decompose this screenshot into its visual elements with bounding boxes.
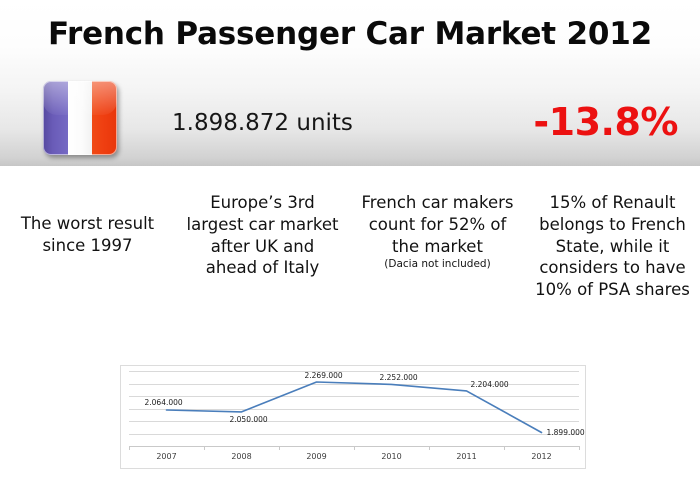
total-units-value: 1.898.872 units: [172, 110, 353, 136]
chart-x-tick: [279, 446, 280, 450]
flag-stripe-white: [68, 81, 93, 155]
flag-stripe-blue: [43, 81, 68, 155]
percent-change-value: -13.8%: [533, 100, 678, 144]
chart-x-label: 2007: [156, 452, 176, 461]
chart-x-label: 2011: [456, 452, 476, 461]
page-title: French Passenger Car Market 2012: [0, 16, 700, 52]
chart-x-tick: [129, 446, 130, 450]
fact-column-1: The worst result since 1997: [0, 190, 175, 257]
fact-footnote: (Dacia not included): [358, 258, 517, 272]
chart-data-label: 2.064.000: [145, 398, 183, 407]
chart-x-tick: [354, 446, 355, 450]
chart-data-label: 2.269.000: [305, 371, 343, 380]
chart-x-label: 2009: [306, 452, 326, 461]
flag-stripe-red: [92, 81, 117, 155]
chart-x-tick: [504, 446, 505, 450]
registrations-line-chart: 2.064.0002.050.0002.269.0002.252.0002.20…: [120, 365, 586, 469]
french-flag-image: [43, 81, 117, 155]
fact-text: 15% of Renault belongs to French State, …: [535, 193, 690, 299]
chart-x-label: 2008: [231, 452, 251, 461]
chart-plot-area: 2.064.0002.050.0002.269.0002.252.0002.20…: [129, 371, 579, 446]
fact-column-3: French car makers count for 52% of the m…: [350, 190, 525, 272]
french-flag: [43, 81, 117, 155]
fact-text: The worst result since 1997: [21, 214, 154, 255]
chart-x-label: 2012: [531, 452, 551, 461]
header-band: French Passenger Car Market 2012 1.898.8…: [0, 0, 700, 166]
chart-x-tick: [429, 446, 430, 450]
chart-series-line: [129, 371, 579, 446]
chart-data-label: 2.050.000: [230, 415, 268, 424]
chart-x-tick: [204, 446, 205, 450]
chart-data-label: 2.204.000: [471, 380, 509, 389]
fact-column-2: Europe’s 3rd largest car market after UK…: [175, 190, 350, 279]
chart-x-axis-labels: 200720082009201020112012: [129, 452, 579, 466]
chart-x-label: 2010: [381, 452, 401, 461]
fact-text: Europe’s 3rd largest car market after UK…: [187, 193, 339, 277]
chart-data-label: 2.252.000: [380, 373, 418, 382]
fact-columns: The worst result since 1997 Europe’s 3rd…: [0, 190, 700, 340]
chart-data-label: 1.899.000: [547, 428, 585, 437]
fact-column-4: 15% of Renault belongs to French State, …: [525, 190, 700, 301]
chart-x-tick: [579, 446, 580, 450]
fact-text: French car makers count for 52% of the m…: [362, 193, 514, 256]
